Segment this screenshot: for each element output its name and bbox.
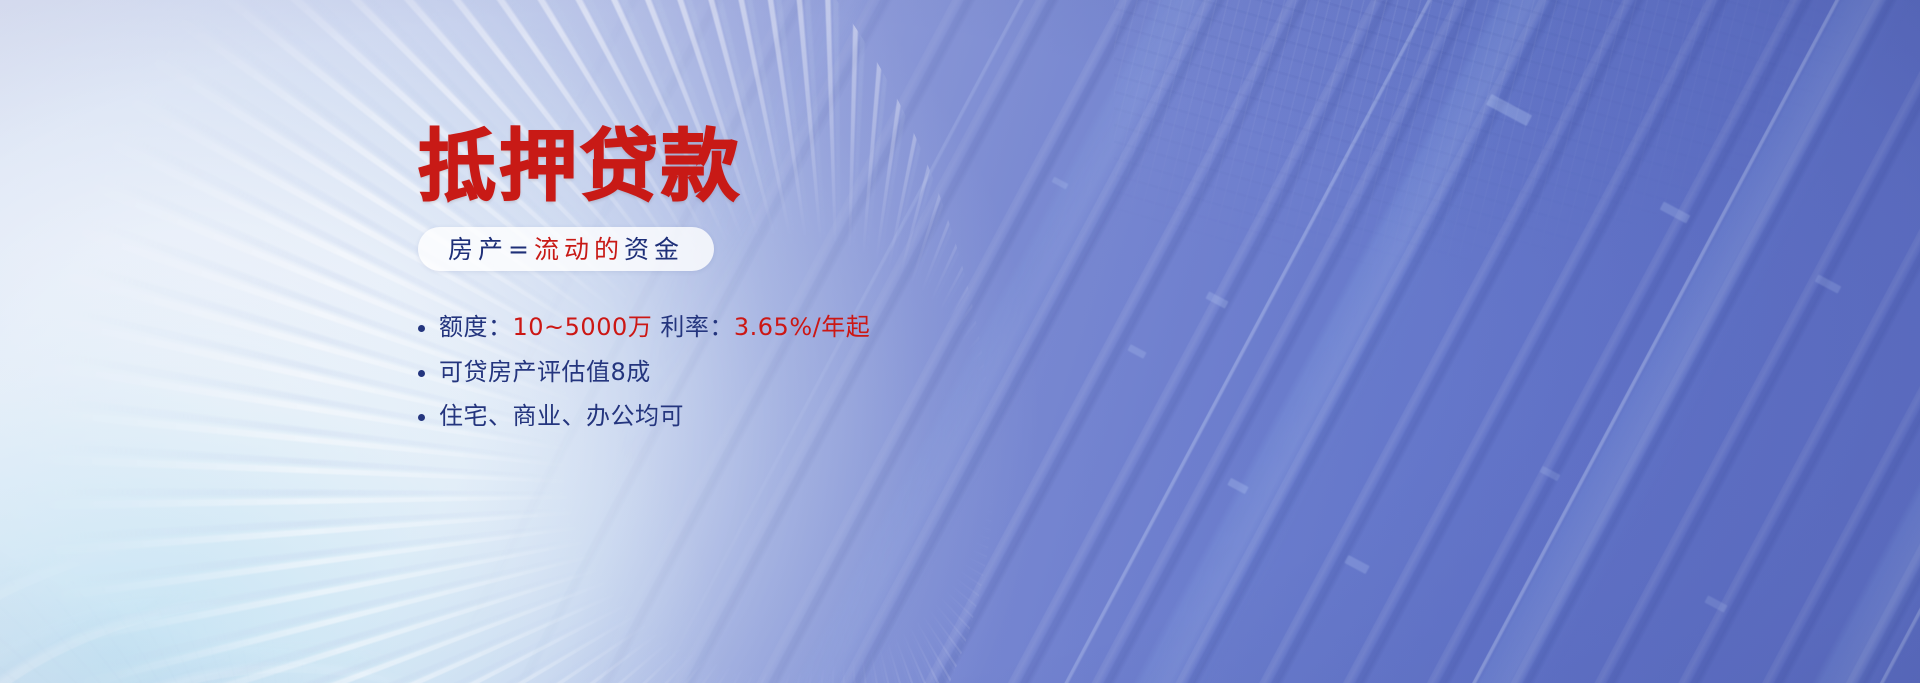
window-glint-10 [1052, 177, 1069, 190]
bullet-2-text: 可贷房产评估值8成 [439, 358, 651, 386]
bullet-1-segment-1: 额度： [439, 313, 513, 341]
page-title: 抵押贷款 [418, 128, 978, 206]
window-glint-8 [1540, 466, 1561, 482]
window-glint-2 [1660, 201, 1691, 223]
tagline-segment-3: 资金 [624, 235, 684, 264]
window-glint-4 [1205, 291, 1228, 308]
window-glint-3 [1815, 274, 1842, 293]
tagline-pill: 房产=流动的资金 [418, 227, 714, 271]
background-far-tower-window-grid [1114, 0, 1920, 290]
tagline-segment-2: 流动的 [534, 235, 624, 264]
bullet-1-segment-3: 利率： [652, 313, 734, 341]
banner-content: 抵押贷款 房产=流动的资金 额度：10~5000万 利率：3.65%/年起 可贷… [418, 128, 978, 433]
bullet-1-segment-4: 3.65%/年起 [734, 313, 870, 341]
list-item: 额度：10~5000万 利率：3.65%/年起 [418, 312, 978, 344]
bullet-3-text: 住宅、商业、办公均可 [439, 402, 684, 430]
list-item: 住宅、商业、办公均可 [418, 401, 978, 433]
bullet-dot-icon [418, 325, 425, 332]
window-glint-7 [1344, 555, 1369, 574]
window-glint-5 [1127, 344, 1146, 359]
window-glint-1 [1486, 94, 1532, 126]
window-glint-6 [1227, 478, 1248, 494]
tagline-text: 房产=流动的资金 [448, 237, 684, 262]
bullet-1-segment-2: 10~5000万 [513, 313, 653, 341]
feature-list: 额度：10~5000万 利率：3.65%/年起 可贷房产评估值8成 住宅、商业、… [418, 312, 978, 433]
window-glint-9 [1704, 595, 1727, 612]
list-item: 可贷房产评估值8成 [418, 357, 978, 389]
tagline-segment-1: 房产= [448, 235, 534, 264]
bullet-dot-icon [418, 370, 425, 377]
bullet-dot-icon [418, 414, 425, 421]
mortgage-loan-banner: 抵押贷款 房产=流动的资金 额度：10~5000万 利率：3.65%/年起 可贷… [0, 0, 1920, 683]
